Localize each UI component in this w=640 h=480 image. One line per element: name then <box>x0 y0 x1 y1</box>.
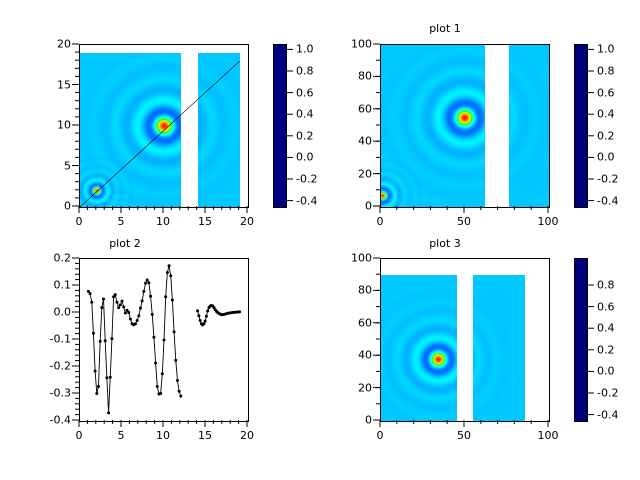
colorbar-tick-label: 0.8 <box>597 279 615 292</box>
y-tick-label: 20 <box>31 38 71 51</box>
colorbar-tick-label: 0.4 <box>597 322 615 335</box>
colorbar-tick-label: -0.4 <box>296 194 317 207</box>
subplot-bottom-left: plot 2 051015200.20.10.0-0.1-0.2-0.3-0.4 <box>0 240 320 480</box>
y-tick-label: 20 <box>332 167 372 180</box>
subplot-top-right: plot 1 050100020406080100 1.00.80.60.40.… <box>320 0 640 240</box>
colorbar <box>574 44 588 208</box>
colorbar-tick-label: 0.8 <box>597 65 615 78</box>
y-tick-label: 40 <box>332 349 372 362</box>
colorbar-tick-label: -0.4 <box>597 194 618 207</box>
y-tick-label: 20 <box>332 381 372 394</box>
colorbar-tick-label: 0.6 <box>597 86 615 99</box>
y-tick-label: 100 <box>332 38 372 51</box>
colorbar-tick-label: 0.2 <box>296 129 314 142</box>
figure-canvas: 0510152005101520 1.00.80.60.40.20.0-0.2-… <box>0 0 640 480</box>
colorbar <box>574 258 588 422</box>
colorbar-tick-label: 0.2 <box>597 343 615 356</box>
x-tick-label: 0 <box>377 215 384 228</box>
x-tick-label: 50 <box>457 429 471 442</box>
y-tick-label: -0.1 <box>31 333 71 346</box>
y-tick-label: 0 <box>31 200 71 213</box>
x-tick-label: 15 <box>198 215 212 228</box>
colorbar-tick-label: -0.2 <box>597 387 618 400</box>
x-tick-label: 0 <box>76 429 83 442</box>
colorbar-gradient <box>575 259 587 421</box>
subplot-bottom-right: plot 3 050100020406080100 0.80.60.40.20.… <box>320 240 640 480</box>
x-tick-label: 5 <box>118 215 125 228</box>
x-tick-label: 50 <box>457 215 471 228</box>
colorbar-gradient <box>274 45 286 207</box>
colorbar-tick-label: 1.0 <box>597 43 615 56</box>
colorbar-tick-label: -0.4 <box>597 408 618 421</box>
y-tick-label: 15 <box>31 78 71 91</box>
y-tick-label: -0.4 <box>31 414 71 427</box>
y-tick-label: -0.2 <box>31 360 71 373</box>
x-tick-label: 100 <box>538 429 559 442</box>
colorbar-tick-label: 0.6 <box>597 300 615 313</box>
y-tick-label: 80 <box>332 70 372 83</box>
colorbar-tick-label: 0.4 <box>597 108 615 121</box>
x-tick-label: 15 <box>198 429 212 442</box>
y-tick-label: 0 <box>332 414 372 427</box>
colorbar-tick-label: 0.6 <box>296 86 314 99</box>
y-tick-label: 5 <box>31 159 71 172</box>
colorbar-tick-label: 1.0 <box>296 43 314 56</box>
subplot-top-left: 0510152005101520 1.00.80.60.40.20.0-0.2-… <box>0 0 320 240</box>
y-tick-label: 0.2 <box>31 252 71 265</box>
y-tick-label: 60 <box>332 316 372 329</box>
colorbar <box>273 44 287 208</box>
x-tick-label: 10 <box>156 215 170 228</box>
y-tick-label: 0 <box>332 200 372 213</box>
y-tick-label: 80 <box>332 284 372 297</box>
x-tick-label: 5 <box>118 429 125 442</box>
colorbar-tick-label: -0.2 <box>597 173 618 186</box>
colorbar-tick-label: 0.8 <box>296 65 314 78</box>
colorbar-tick-label: 0.0 <box>296 151 314 164</box>
x-tick-label: 20 <box>240 429 254 442</box>
x-tick-label: 20 <box>240 215 254 228</box>
colorbar-gradient <box>575 45 587 207</box>
y-tick-label: 0.1 <box>31 279 71 292</box>
y-tick-label: 10 <box>31 119 71 132</box>
y-tick-label: 100 <box>332 252 372 265</box>
colorbar-tick-label: 0.0 <box>597 151 615 164</box>
x-tick-label: 10 <box>156 429 170 442</box>
y-tick-label: 40 <box>332 135 372 148</box>
x-tick-label: 0 <box>76 215 83 228</box>
x-tick-label: 0 <box>377 429 384 442</box>
y-tick-label: 60 <box>332 102 372 115</box>
colorbar-tick-label: 0.4 <box>296 108 314 121</box>
colorbar-tick-label: 0.0 <box>597 365 615 378</box>
colorbar-tick-label: 0.2 <box>597 129 615 142</box>
y-tick-label: -0.3 <box>31 387 71 400</box>
x-tick-label: 100 <box>538 215 559 228</box>
y-tick-label: 0.0 <box>31 306 71 319</box>
colorbar-tick-label: -0.2 <box>296 173 317 186</box>
